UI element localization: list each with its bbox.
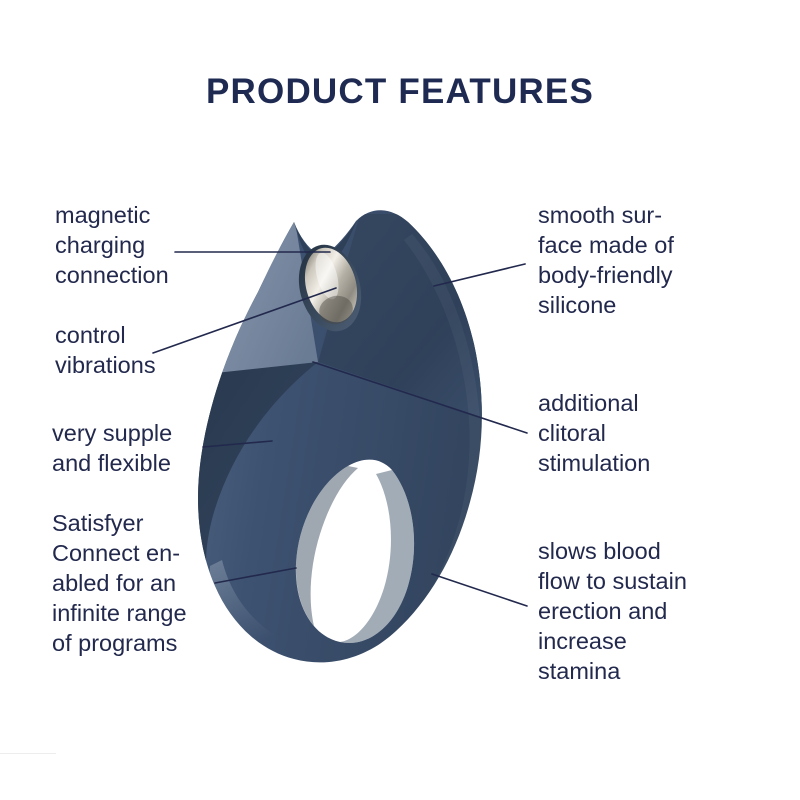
feature-label-control-vibrations: control vibrations: [55, 320, 156, 380]
feature-label-additional-clitoral-stimulation: additional clitoral stimulation: [538, 388, 650, 478]
feature-label-satisfyer-connect-enabled: Satisfyer Connect en- abled for an infin…: [52, 508, 187, 658]
feature-label-slows-blood-flow: slows blood flow to sustain erection and…: [538, 536, 687, 686]
feature-label-smooth-surface-silicone: smooth sur- face made of body-friendly s…: [538, 200, 674, 320]
feature-label-magnetic-charging-connection: magnetic charging connection: [55, 200, 169, 290]
bottom-divider: [0, 753, 56, 754]
product-body: [150, 210, 520, 680]
feature-label-very-supple-and-flexible: very supple and flexible: [52, 418, 172, 478]
leader-slows-blood-flow: [432, 574, 527, 606]
product-features-infographic: PRODUCT FEATURES: [0, 0, 800, 800]
